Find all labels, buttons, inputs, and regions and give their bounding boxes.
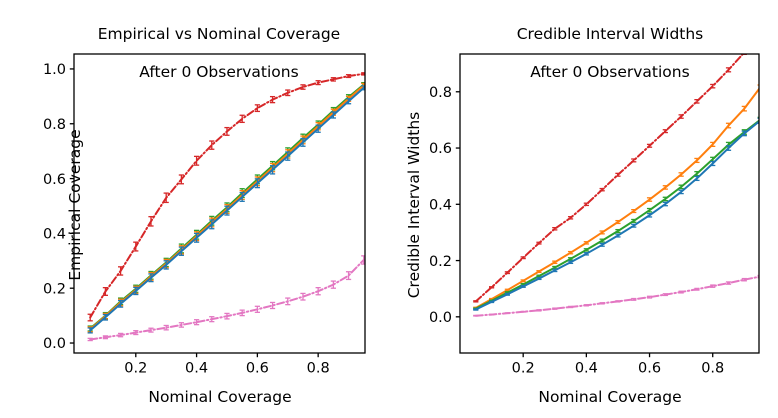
svg-text:0.2: 0.2 bbox=[512, 361, 535, 377]
svg-text:0.8: 0.8 bbox=[701, 361, 724, 377]
svg-text:0.0: 0.0 bbox=[429, 310, 452, 326]
svg-text:0.6: 0.6 bbox=[429, 141, 452, 157]
figure-root: Empirical vs Nominal Coverage After 0 Ob… bbox=[0, 0, 778, 418]
svg-text:0.2: 0.2 bbox=[429, 254, 452, 270]
svg-text:0.4: 0.4 bbox=[575, 361, 598, 377]
right-plot-area: 0.20.40.60.80.00.20.40.60.8 bbox=[0, 0, 778, 418]
svg-text:0.8: 0.8 bbox=[429, 85, 452, 101]
svg-text:0.6: 0.6 bbox=[638, 361, 661, 377]
svg-text:0.4: 0.4 bbox=[429, 198, 452, 214]
